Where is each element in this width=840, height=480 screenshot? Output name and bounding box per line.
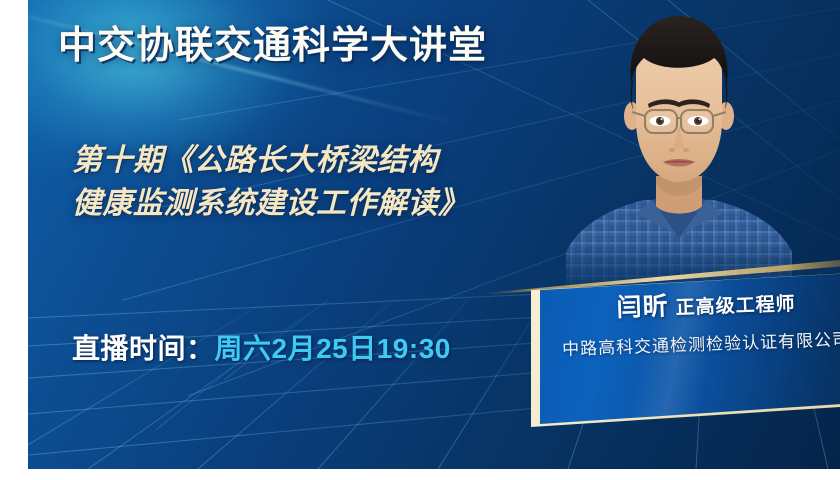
session-subtitle: 第十期《公路长大桥梁结构 健康监测系统建设工作解读》 (72, 140, 469, 225)
subtitle-line-2: 健康监测系统建设工作解读》 (72, 183, 469, 226)
live-time-label: 直播时间： (72, 333, 215, 364)
live-time-value: 周六2月25日19:30 (215, 333, 451, 364)
page-title: 中交协联交通科学大讲堂 (58, 27, 487, 67)
speaker-panel (540, 272, 840, 424)
panel-sheen (614, 272, 736, 424)
subtitle-line-1: 第十期《公路长大桥梁结构 (72, 140, 469, 183)
speaker-photo (548, 0, 808, 292)
live-time-line: 直播时间：周六2月25日19:30 (72, 327, 451, 367)
poster-root: 中交协联交通科学大讲堂 第十期《公路长大桥梁结构 健康监测系统建设工作解读》 直… (0, 0, 840, 480)
poster-canvas: 中交协联交通科学大讲堂 第十期《公路长大桥梁结构 健康监测系统建设工作解读》 直… (28, 0, 840, 469)
